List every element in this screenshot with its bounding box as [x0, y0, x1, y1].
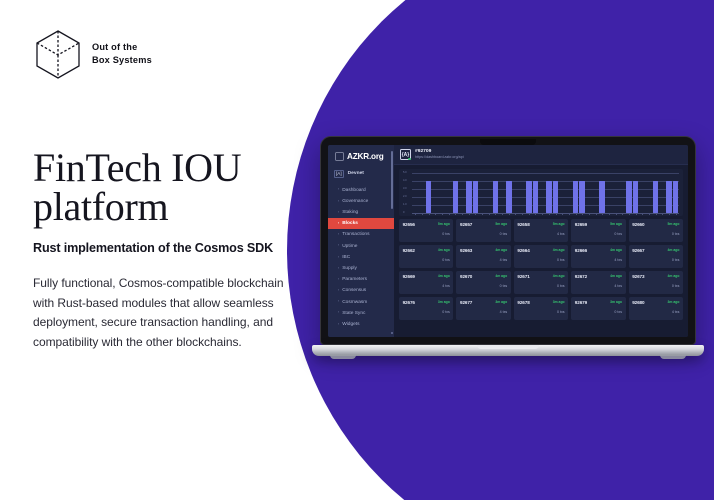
chart-x-tick	[642, 214, 643, 216]
chart-x-tick	[515, 214, 516, 216]
block-number: 92662	[403, 248, 415, 253]
block-number: 92678	[517, 300, 529, 305]
block-tx-count: 0 txs	[517, 258, 564, 262]
chart-x-tick	[462, 214, 463, 216]
block-card[interactable]: 926585m ago4 txs	[514, 219, 568, 242]
topbar-info: #92709 https://dashboard.azkr.org/api	[415, 149, 464, 160]
chevron-right-icon: ›	[338, 188, 339, 192]
block-tx-count: 0 txs	[460, 284, 507, 288]
company-logo: Out of the Box Systems	[33, 28, 152, 80]
block-card[interactable]: 926783m ago0 txs	[514, 297, 568, 320]
chevron-right-icon: ›	[338, 278, 339, 282]
chart-bar	[673, 181, 679, 213]
chart-x-tick	[549, 214, 550, 216]
chevron-right-icon: ›	[338, 244, 339, 248]
sidebar-item-label: Parameters	[342, 277, 367, 282]
network-label: Devnet	[348, 171, 364, 176]
sidebar-item-label: Blocks	[342, 221, 358, 226]
block-tx-count: 4 txs	[575, 284, 622, 288]
laptop-lid: AZKR.org [A] Devnet ›Dashboard›Governanc…	[320, 136, 696, 345]
block-card[interactable]: 926714m ago0 txs	[514, 271, 568, 294]
chart-x-tick	[542, 214, 543, 216]
block-number: 92670	[460, 274, 472, 279]
chart-x-tick	[636, 214, 637, 216]
sidebar-item-cosmwasm[interactable]: ›Cosmwasm	[328, 296, 394, 307]
block-number: 92659	[575, 222, 587, 227]
network-selector[interactable]: [A] Devnet	[328, 170, 394, 178]
block-timestamp: 4m ago	[553, 248, 565, 252]
block-tx-count: 0 txs	[632, 258, 679, 262]
block-number: 92679	[575, 300, 587, 305]
sidebar-item-dashboard[interactable]: ›Dashboard	[328, 185, 394, 196]
block-card[interactable]: 926803m ago4 txs	[629, 297, 683, 320]
block-number: 92671	[517, 274, 529, 279]
chevron-right-icon: ›	[338, 289, 339, 293]
block-card[interactable]: 926793m ago0 txs	[571, 297, 625, 320]
chevron-right-icon: ›	[338, 311, 339, 315]
chart-x-tick	[602, 214, 603, 216]
laptop-mockup: AZKR.org [A] Devnet ›Dashboard›Governanc…	[320, 136, 696, 356]
sidebar-item-label: Cosmwasm	[342, 300, 367, 305]
block-number: 92672	[575, 274, 587, 279]
chart-x-tick	[589, 214, 590, 216]
chart-bars	[412, 173, 679, 213]
block-card[interactable]: 926624m ago0 txs	[399, 245, 453, 268]
block-card[interactable]: 926694m ago4 txs	[399, 271, 453, 294]
block-card[interactable]: 926674m ago0 txs	[629, 245, 683, 268]
chevron-right-icon: ›	[338, 267, 339, 271]
block-number: 92667	[632, 248, 644, 253]
chart-x-tick	[569, 214, 570, 216]
block-tx-count: 0 txs	[460, 232, 507, 236]
chart-bar	[426, 181, 432, 213]
chart-x-tick	[616, 214, 617, 216]
chart-x-tick	[629, 214, 630, 216]
sidebar-item-label: Uptime	[342, 244, 357, 249]
chevron-right-icon: ›	[338, 222, 339, 226]
block-number: 92673	[632, 274, 644, 279]
chart-x-axis	[412, 213, 679, 215]
chart-x-tick	[509, 214, 510, 216]
block-timestamp: 3m ago	[553, 300, 565, 304]
chart-x-tick	[449, 214, 450, 216]
logo-line-2: Box Systems	[92, 54, 152, 67]
block-tx-count: 0 txs	[517, 284, 564, 288]
chart-x-tick	[475, 214, 476, 216]
chart-x-tick	[649, 214, 650, 216]
block-timestamp: 4m ago	[668, 248, 680, 252]
block-number: 92660	[632, 222, 644, 227]
chart-x-tick	[522, 214, 523, 216]
sidebar-item-supply[interactable]: ›Supply	[328, 263, 394, 274]
sidebar-item-label: Supply	[342, 266, 357, 271]
chart-x-tick	[556, 214, 557, 216]
sidebar-item-label: IBC	[342, 255, 350, 260]
sidebar-item-label: Dashboard	[342, 188, 365, 193]
chart-bar	[506, 181, 512, 213]
block-timestamp: 4m ago	[438, 274, 450, 278]
sidebar-item-state-sync[interactable]: ›State Sync	[328, 308, 394, 319]
laptop-foot-left	[330, 355, 356, 359]
chart-y-tick-label: 0	[403, 212, 404, 215]
block-timestamp: 5m ago	[438, 222, 450, 226]
block-timestamp: 3m ago	[668, 300, 680, 304]
chart-x-tick	[455, 214, 456, 216]
sidebar-item-label: Staking	[342, 210, 358, 215]
chart-bar	[653, 181, 659, 213]
block-timestamp: 3m ago	[438, 300, 450, 304]
chart-x-tick	[669, 214, 670, 216]
block-timestamp: 4m ago	[610, 248, 622, 252]
sidebar-item-label: Consensus	[342, 288, 366, 293]
page-title: FinTech IOU platform	[33, 148, 295, 226]
sidebar-item-ibc[interactable]: ›IBC	[328, 252, 394, 263]
block-timestamp: 4m ago	[438, 248, 450, 252]
app-logo-glyph: {A}	[402, 152, 410, 158]
sidebar-item-label: State Sync	[342, 311, 365, 316]
hero-copy: FinTech IOU platform Rust implementation…	[33, 148, 295, 353]
block-number: 92657	[460, 222, 472, 227]
chevron-right-icon: ›	[338, 256, 339, 260]
sidebar-item-parameters[interactable]: ›Parameters	[328, 274, 394, 285]
block-card[interactable]: 926704m ago0 txs	[456, 271, 510, 294]
chart-x-tick	[482, 214, 483, 216]
chart-y-tick-label: 5.0	[403, 172, 407, 175]
azkr-logo-icon	[335, 152, 344, 161]
blocks-bar-chart: 5.04.03.02.01.00	[412, 173, 679, 213]
app-screen: AZKR.org [A] Devnet ›Dashboard›Governanc…	[328, 145, 688, 337]
chart-x-tick	[415, 214, 416, 216]
chart-x-tick	[495, 214, 496, 216]
block-card[interactable]: 926605m ago0 txs	[629, 219, 683, 242]
block-timestamp: 4m ago	[495, 248, 507, 252]
block-timestamp: 5m ago	[495, 222, 507, 226]
sidebar-scrollbar[interactable]	[391, 151, 393, 209]
block-timestamp: 5m ago	[553, 222, 565, 226]
sidebar-item-staking[interactable]: ›Staking	[328, 207, 394, 218]
block-tx-count: 4 txs	[460, 310, 507, 314]
chart-bar	[526, 181, 532, 213]
chart-bar	[473, 181, 479, 213]
chart-x-tick	[622, 214, 623, 216]
chevron-right-icon: ›	[338, 323, 339, 327]
chevron-right-icon: ›	[338, 200, 339, 204]
block-card[interactable]: 926664m ago4 txs	[571, 245, 625, 268]
chevron-right-icon: ›	[338, 211, 339, 215]
chart-bar	[573, 181, 579, 213]
chart-bar	[633, 181, 639, 213]
block-number: 92663	[460, 248, 472, 253]
chart-x-tick	[582, 214, 583, 216]
app-brand-name: AZKR.org	[347, 152, 384, 161]
sidebar-item-uptime[interactable]: ›Uptime	[328, 241, 394, 252]
chart-y-tick-label: 3.0	[403, 188, 407, 191]
sidebar-scrollbar-thumb[interactable]	[391, 332, 393, 334]
block-timestamp: 4m ago	[668, 274, 680, 278]
chart-x-tick	[535, 214, 536, 216]
chart-bar	[599, 181, 605, 213]
app-sidebar: AZKR.org [A] Devnet ›Dashboard›Governanc…	[328, 145, 394, 337]
logo-line-1: Out of the	[92, 41, 152, 54]
chart-bar	[546, 181, 552, 213]
chart-bar	[666, 181, 672, 213]
hero-description: Fully functional, Cosmos-compatible bloc…	[33, 274, 295, 352]
laptop-foot-right	[660, 355, 686, 359]
chart-bar	[453, 181, 459, 213]
logo-text: Out of the Box Systems	[92, 41, 152, 68]
chart-x-tick	[435, 214, 436, 216]
block-number: 92666	[575, 248, 587, 253]
chart-x-tick	[502, 214, 503, 216]
chart-bar	[493, 181, 499, 213]
sidebar-nav: ›Dashboard›Governance›Staking›Blocks›Tra…	[328, 185, 394, 330]
block-card[interactable]: 926634m ago4 txs	[456, 245, 510, 268]
chevron-right-icon: ›	[338, 233, 339, 237]
block-timestamp: 5m ago	[668, 222, 680, 226]
app-brand[interactable]: AZKR.org	[328, 152, 394, 161]
block-number: 92669	[403, 274, 415, 279]
chart-bar	[626, 181, 632, 213]
chart-bar	[533, 181, 539, 213]
block-tx-count: 0 txs	[632, 284, 679, 288]
chart-x-tick	[429, 214, 430, 216]
block-tx-count: 0 txs	[403, 232, 450, 236]
block-tx-count: 0 txs	[403, 258, 450, 262]
block-tx-count: 0 txs	[575, 310, 622, 314]
sidebar-item-transactions[interactable]: ›Transactions	[328, 229, 394, 240]
chart-y-tick-label: 1.0	[403, 204, 407, 207]
status-dot-icon	[408, 158, 411, 161]
chart-x-tick	[596, 214, 597, 216]
chart-y-tick-label: 4.0	[403, 180, 407, 183]
block-number: 92676	[403, 300, 415, 305]
chart-x-tick	[489, 214, 490, 216]
chart-x-tick	[442, 214, 443, 216]
headline-line-2: platform	[33, 184, 168, 229]
block-tx-count: 0 txs	[575, 232, 622, 236]
block-timestamp: 4m ago	[495, 274, 507, 278]
chart-x-tick	[662, 214, 663, 216]
block-number: 92656	[403, 222, 415, 227]
laptop-base	[312, 345, 704, 356]
blocks-chart-card: 5.04.03.02.01.00	[399, 169, 683, 216]
app-topbar: {A} #92709 https://dashboard.azkr.org/ap…	[394, 145, 688, 165]
block-timestamp: 4m ago	[553, 274, 565, 278]
chart-x-tick	[676, 214, 677, 216]
block-card[interactable]: 926734m ago0 txs	[629, 271, 683, 294]
app-main: {A} #92709 https://dashboard.azkr.org/ap…	[394, 145, 688, 337]
blocks-grid: 926565m ago0 txs926575m ago0 txs926585m …	[399, 219, 683, 320]
sidebar-item-label: Transactions	[342, 232, 369, 237]
block-timestamp: 4m ago	[610, 274, 622, 278]
cube-icon	[33, 28, 83, 80]
chart-x-tick	[562, 214, 563, 216]
block-number: 92680	[632, 300, 644, 305]
chart-x-tick	[656, 214, 657, 216]
block-tx-count: 0 txs	[632, 232, 679, 236]
block-card[interactable]: 926763m ago0 txs	[399, 297, 453, 320]
block-number: 92677	[460, 300, 472, 305]
block-tx-count: 4 txs	[460, 258, 507, 262]
block-card[interactable]: 926575m ago0 txs	[456, 219, 510, 242]
block-number: 92664	[517, 248, 529, 253]
chart-x-tick	[529, 214, 530, 216]
sidebar-item-blocks[interactable]: ›Blocks	[328, 218, 394, 229]
chart-bar	[466, 181, 472, 213]
block-tx-count: 0 txs	[403, 310, 450, 314]
chevron-right-icon: ›	[338, 300, 339, 304]
block-card[interactable]: 926565m ago0 txs	[399, 219, 453, 242]
network-badge: [A]	[334, 170, 344, 178]
sidebar-item-widgets[interactable]: ›Widgets	[328, 319, 394, 330]
chart-y-tick-label: 2.0	[403, 196, 407, 199]
block-card[interactable]: 926773m ago4 txs	[456, 297, 510, 320]
sidebar-item-label: Governance	[342, 199, 368, 204]
chart-x-tick	[469, 214, 470, 216]
block-timestamp: 5m ago	[610, 222, 622, 226]
chart-x-tick	[609, 214, 610, 216]
block-tx-count: 0 txs	[517, 310, 564, 314]
sidebar-item-consensus[interactable]: ›Consensus	[328, 285, 394, 296]
sidebar-item-label: Widgets	[342, 322, 359, 327]
sidebar-item-governance[interactable]: ›Governance	[328, 196, 394, 207]
block-tx-count: 4 txs	[403, 284, 450, 288]
block-timestamp: 3m ago	[610, 300, 622, 304]
chart-x-tick	[422, 214, 423, 216]
chart-bar	[579, 181, 585, 213]
block-tx-count: 4 txs	[632, 310, 679, 314]
chart-bar	[553, 181, 559, 213]
block-card[interactable]: 926724m ago4 txs	[571, 271, 625, 294]
block-card[interactable]: 926595m ago0 txs	[571, 219, 625, 242]
block-number: 92658	[517, 222, 529, 227]
chart-x-tick	[576, 214, 577, 216]
block-tx-count: 4 txs	[517, 232, 564, 236]
block-tx-count: 4 txs	[575, 258, 622, 262]
hero-subtitle: Rust implementation of the Cosmos SDK	[33, 241, 295, 255]
laptop-base-notch	[477, 345, 539, 349]
block-card[interactable]: 926644m ago0 txs	[514, 245, 568, 268]
app-logo-icon: {A}	[400, 149, 411, 160]
api-url[interactable]: https://dashboard.azkr.org/api	[415, 155, 464, 160]
block-timestamp: 3m ago	[495, 300, 507, 304]
